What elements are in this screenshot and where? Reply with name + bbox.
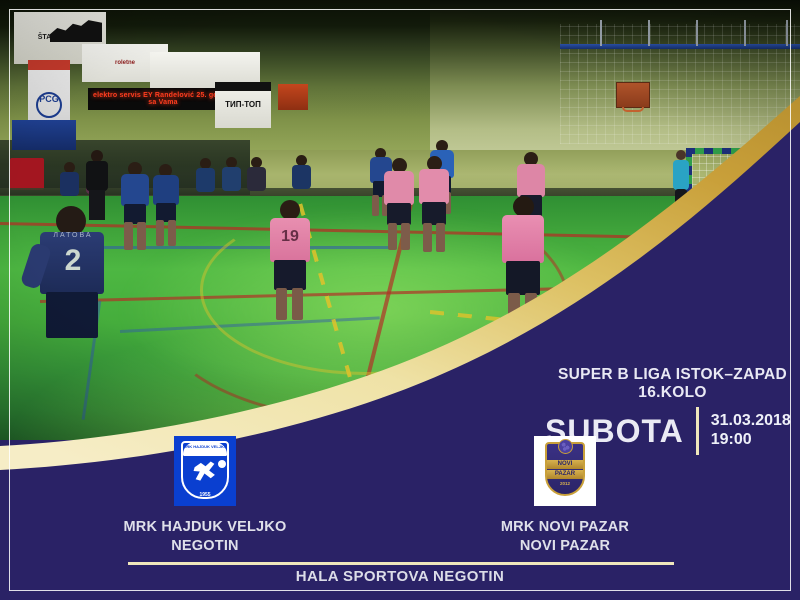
home-team-name-line2: NEGOTIN [40,537,370,556]
home-team-block: MRK HAJDUK VELJKO 1955 MRK HAJDUK VELJKO… [40,432,370,555]
crest-club-text-line1: NOVI [547,460,583,469]
league-info-block: SUPER B LIGA ISTOK–ZAPAD 16.KOLO [545,366,800,402]
away-team-crest-slot: NOVI PAZAR 2012 [400,432,730,510]
crest-year: 2012 [534,481,596,486]
match-date: 31.03.2018 [711,412,791,431]
ball-icon [218,460,226,468]
league-title: SUPER B LIGA ISTOK–ZAPAD [545,366,800,384]
away-team-block: NOVI PAZAR 2012 MRK NOVI PAZAR NOVI PAZA… [400,432,730,555]
away-team-crest-icon: NOVI PAZAR 2012 [534,436,596,506]
round-label: 16.KOLO [545,384,800,402]
home-team-crest-slot: MRK HAJDUK VELJKO 1955 [40,432,370,510]
crest-club-text: MRK HAJDUK VELJKO [183,442,227,456]
home-team-name-line1: MRK HAJDUK VELJKO [40,518,370,537]
away-team-name-line1: MRK NOVI PAZAR [400,518,730,537]
crest-year: 1955 [174,492,236,498]
home-team-crest-icon: MRK HAJDUK VELJKO 1955 [174,436,236,506]
away-team-name: MRK NOVI PAZAR NOVI PAZAR [400,518,730,555]
venue-divider-rule [128,562,674,565]
venue-label: HALA SPORTOVA NEGOTIN [0,568,800,585]
match-announcement-poster: ŠTAMPARIJA PCG roletne elektro servis EY… [0,0,800,600]
crest-club-text-line2: PAZAR [547,470,583,479]
away-team-name-line2: NOVI PAZAR [400,537,730,556]
home-team-name: MRK HAJDUK VELJKO NEGOTIN [40,518,370,555]
ball-icon [558,439,573,454]
